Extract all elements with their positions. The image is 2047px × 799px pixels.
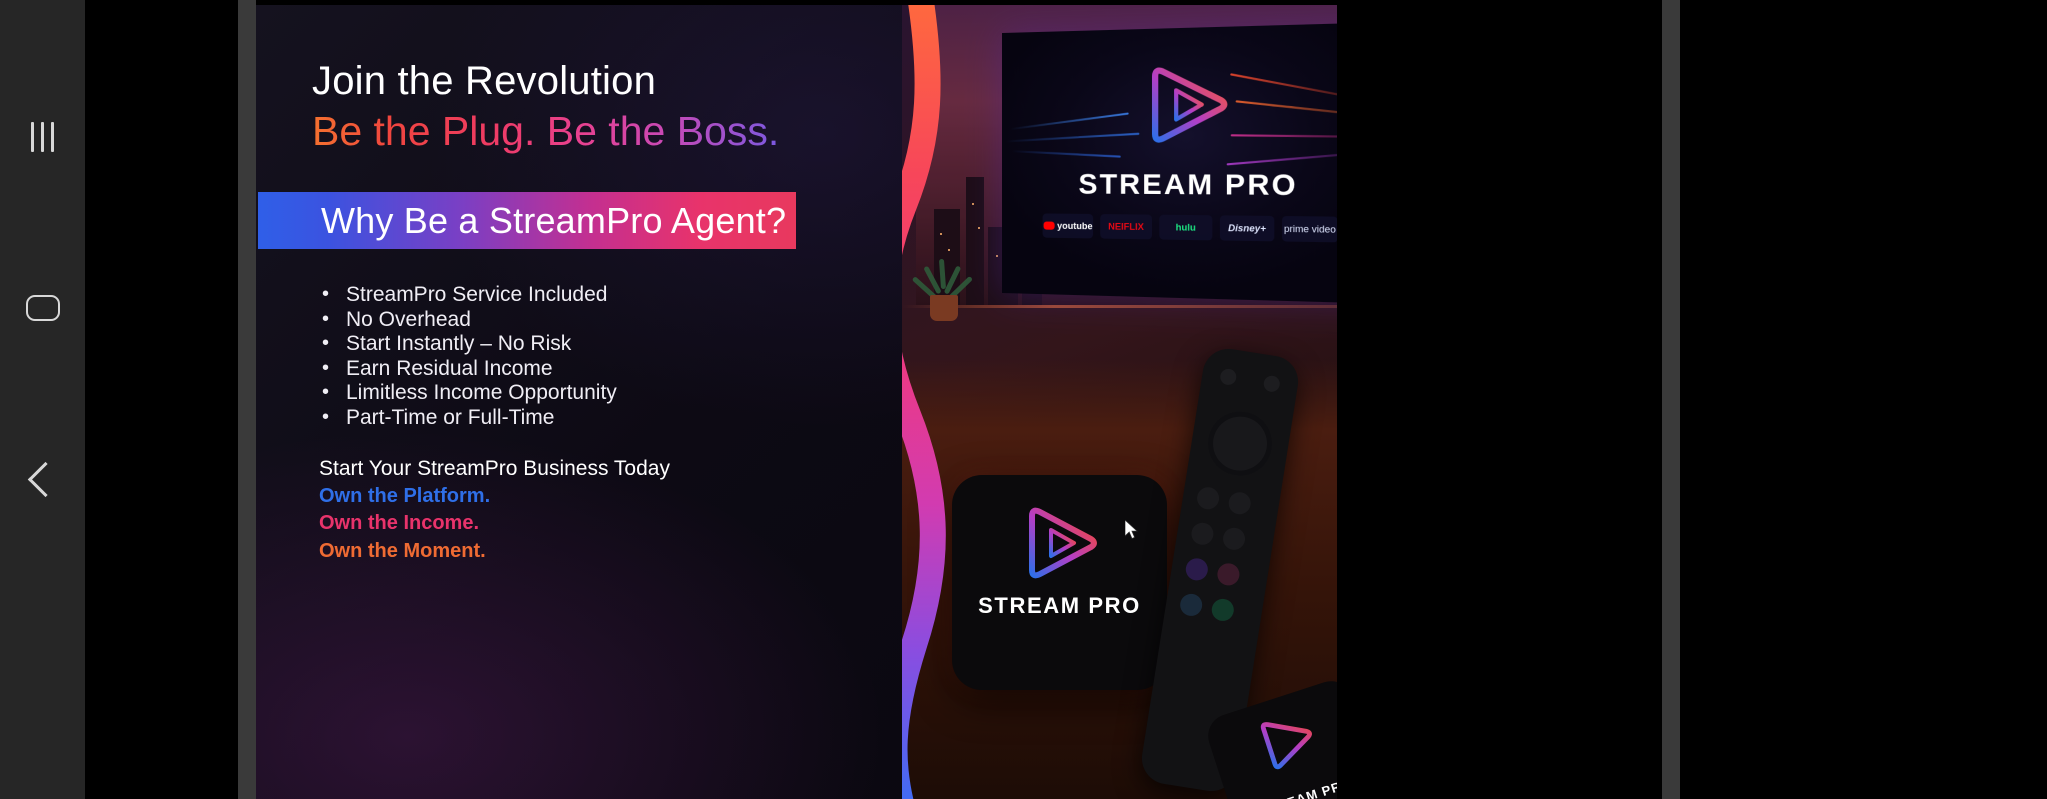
letterbox-right	[1680, 0, 2047, 799]
remote-app-button-3	[1179, 592, 1204, 617]
streampro-play-logo-icon	[1141, 62, 1232, 146]
streaming-service-logo-row: youtube NEIFLIX hulu Disney+ prime video	[1002, 213, 1337, 243]
slide-headline: Be the Plug. Be the Boss.	[312, 108, 779, 155]
presentation-slide[interactable]: Join the Revolution Be the Plug. Be the …	[256, 5, 1337, 799]
scroll-rail-right[interactable]	[1662, 0, 1680, 799]
streampro-play-logo-icon	[1019, 505, 1101, 581]
youtube-logo-icon: youtube	[1043, 213, 1093, 238]
television: STREAM PRO youtube NEIFLIX hulu Disney+ …	[1002, 22, 1337, 303]
home-button[interactable]	[0, 283, 85, 333]
remote-dpad	[1203, 407, 1276, 480]
device-screen: Join the Revolution Be the Plug. Be the …	[0, 0, 2047, 799]
back-button[interactable]	[0, 454, 85, 504]
cta-line-income: Own the Income.	[319, 511, 670, 535]
plant-pot	[930, 295, 958, 321]
hulu-logo-icon: hulu	[1159, 215, 1212, 241]
remote-rewind-button	[1195, 486, 1220, 511]
remote-play-button	[1227, 491, 1252, 516]
letterbox-left	[85, 0, 238, 799]
benefits-list: StreamPro Service Included No Overhead S…	[318, 283, 617, 431]
list-item: Earn Residual Income	[318, 357, 617, 382]
recents-button[interactable]	[0, 112, 85, 162]
list-item: Limitless Income Opportunity	[318, 381, 617, 406]
remote-voice-button	[1263, 375, 1281, 393]
list-item: No Overhead	[318, 308, 617, 333]
home-icon	[26, 295, 60, 321]
product-photo: STREAM PRO youtube NEIFLIX hulu Disney+ …	[902, 5, 1337, 799]
list-item: StreamPro Service Included	[318, 283, 617, 308]
slide-banner-text: Why Be a StreamPro Agent?	[321, 200, 786, 242]
mouse-cursor	[1125, 520, 1141, 540]
netflix-logo-icon: NEIFLIX	[1100, 214, 1152, 239]
chevron-left-icon	[28, 461, 63, 496]
remote-menu-button	[1221, 526, 1246, 551]
list-item: Part-Time or Full-Time	[318, 406, 617, 431]
call-to-action-block: Start Your StreamPro Business Today Own …	[319, 457, 670, 563]
tv-screen: STREAM PRO youtube NEIFLIX hulu Disney+ …	[1002, 22, 1337, 303]
primevideo-logo-icon: prime video	[1282, 216, 1337, 242]
android-navigation-bar	[0, 0, 85, 799]
recents-icon	[31, 122, 54, 152]
streaming-device-puck: STREAM PRO	[952, 475, 1167, 690]
remote-app-button-1	[1184, 557, 1209, 582]
streampro-play-logo-icon	[1253, 707, 1322, 774]
remote-app-button-2	[1216, 562, 1241, 587]
disneyplus-logo-icon: Disney+	[1220, 215, 1274, 241]
slide-banner: Why Be a StreamPro Agent?	[258, 192, 796, 249]
tv-brand-title: STREAM PRO	[1002, 168, 1337, 203]
cta-line-moment: Own the Moment.	[319, 539, 670, 563]
remote-app-button-4	[1210, 597, 1235, 622]
puck-secondary-brand-title: STREAM PRO	[1232, 767, 1337, 799]
youtube-logo-label: youtube	[1057, 221, 1092, 232]
cta-line-platform: Own the Platform.	[319, 484, 670, 508]
slide-text-column: Join the Revolution Be the Plug. Be the …	[256, 5, 916, 799]
list-item: Start Instantly – No Risk	[318, 332, 617, 357]
cta-lead-text: Start Your StreamPro Business Today	[319, 457, 670, 481]
potted-plant	[918, 255, 970, 321]
remote-volume-button	[1190, 521, 1215, 546]
scroll-rail-left[interactable]	[238, 0, 256, 799]
slide-kicker: Join the Revolution	[312, 59, 656, 104]
puck-brand-title: STREAM PRO	[952, 593, 1167, 619]
remote-power-button	[1219, 368, 1237, 386]
